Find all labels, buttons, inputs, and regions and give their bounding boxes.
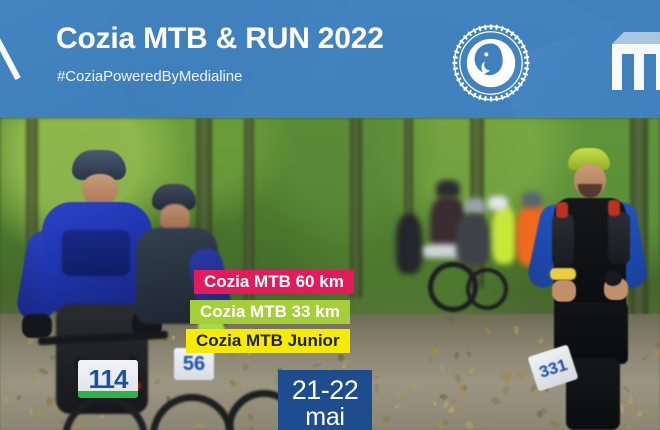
- band-mtb-60km-label: Cozia MTB 60 km: [204, 272, 344, 292]
- bib-number: 114: [89, 366, 128, 392]
- hashtag-label: #CoziaPoweredByMedialine: [57, 68, 242, 85]
- event-poster: Cozia MTB & RUN 2022 #CoziaPoweredByMedi…: [0, 0, 660, 430]
- poster-header: Cozia MTB & RUN 2022 #CoziaPoweredByMedi…: [0, 0, 660, 118]
- medialine-logo-icon: [610, 28, 660, 92]
- band-mtb-33km-label: Cozia MTB 33 km: [200, 302, 340, 322]
- band-mtb-33km: Cozia MTB 33 km: [190, 300, 350, 324]
- event-date-box: 21-22 mai: [278, 370, 372, 430]
- page-title: Cozia MTB & RUN 2022: [56, 22, 384, 56]
- header-facet-pattern: [0, 0, 660, 118]
- band-mtb-60km: Cozia MTB 60 km: [194, 270, 354, 294]
- band-mtb-junior: Cozia MTB Junior: [186, 329, 350, 353]
- race-bib-front: 114: [78, 360, 138, 398]
- club-emblem-icon: [452, 24, 530, 102]
- bib-number-runner: 331: [537, 356, 569, 381]
- event-date-month: mai: [305, 405, 344, 430]
- event-date-days: 21-22: [292, 377, 359, 405]
- bib-number-second: 56: [183, 354, 205, 374]
- race-photo: 114 56 331 Cozia MTB 60 km Cozia MTB: [0, 118, 660, 430]
- band-mtb-junior-label: Cozia MTB Junior: [196, 331, 340, 351]
